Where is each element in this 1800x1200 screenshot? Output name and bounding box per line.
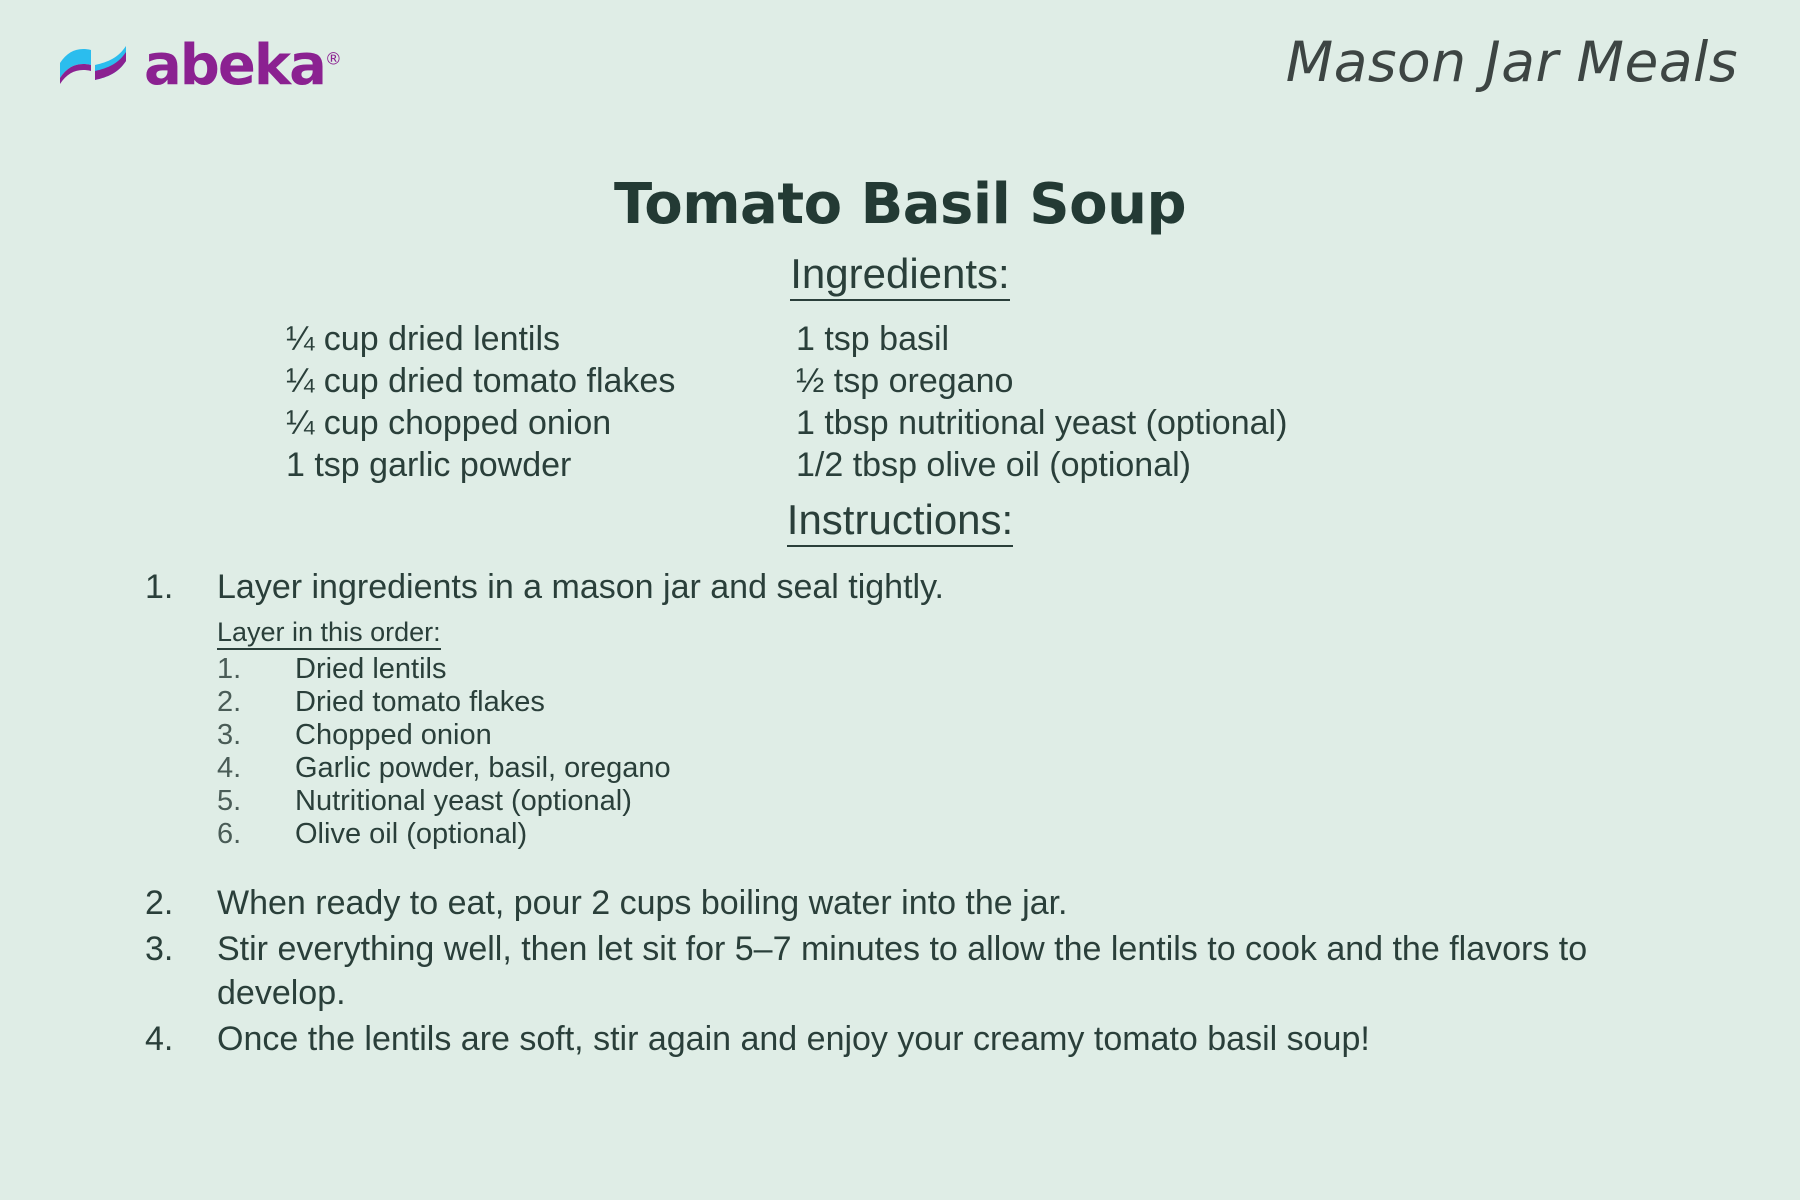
ingredient-item: ¼ cup chopped onion [286, 402, 616, 444]
instructions-heading-text: Instructions: [787, 496, 1013, 547]
step-text: Stir everything well, then let sit for 5… [217, 927, 1665, 1015]
ingredient-item: ½ tsp oregano [796, 360, 1287, 402]
layer-item-number: 6. [217, 818, 295, 851]
page-title: Tomato Basil Soup [0, 172, 1800, 237]
step-text: Once the lentils are soft, stir again an… [217, 1017, 1665, 1061]
step-number: 1. [145, 565, 217, 609]
ingredients-section: ¼ cup dried lentils ¼ cup dried tomato f… [0, 318, 1800, 486]
ingredient-item: ¼ cup dried lentils [286, 318, 616, 360]
layer-item-number: 1. [217, 653, 295, 686]
ingredients-column-right: 1 tsp basil ½ tsp oregano 1 tbsp nutriti… [796, 318, 1287, 486]
ingredients-column-left: ¼ cup dried lentils ¼ cup dried tomato f… [286, 318, 616, 486]
layer-item-text: Olive oil (optional) [295, 818, 1665, 851]
ingredient-item: 1 tbsp nutritional yeast (optional) [796, 402, 1287, 444]
layer-order-list: 1. Dried lentils 2. Dried tomato flakes … [217, 653, 1665, 851]
step-text: When ready to eat, pour 2 cups boiling w… [217, 881, 1665, 925]
step-text: Layer ingredients in a mason jar and sea… [217, 565, 1665, 609]
layer-item-text: Nutritional yeast (optional) [295, 785, 1665, 818]
registered-trademark-icon: ® [325, 49, 342, 69]
instruction-step: 4. Once the lentils are soft, stir again… [145, 1017, 1665, 1061]
layer-item-number: 3. [217, 719, 295, 752]
step-number: 3. [145, 927, 217, 1015]
abeka-logo: abeka® [58, 36, 342, 92]
layer-list-item: 1. Dried lentils [217, 653, 1665, 686]
layer-list-item: 3. Chopped onion [217, 719, 1665, 752]
instruction-step: 1. Layer ingredients in a mason jar and … [145, 565, 1665, 609]
ingredients-heading-text: Ingredients: [790, 250, 1009, 301]
ingredients-heading: Ingredients: [0, 250, 1800, 298]
layer-item-text: Dried lentils [295, 653, 1665, 686]
layer-list-item: 4. Garlic powder, basil, oregano [217, 752, 1665, 785]
step-number: 2. [145, 881, 217, 925]
layer-item-text: Chopped onion [295, 719, 1665, 752]
layer-item-number: 2. [217, 686, 295, 719]
ingredient-item: 1 tsp garlic powder [286, 444, 616, 486]
layer-item-number: 5. [217, 785, 295, 818]
brand-wordmark: abeka® [144, 38, 342, 94]
layer-order-block: Layer in this order: 1. Dried lentils 2.… [145, 613, 1665, 851]
page-header: abeka® Mason Jar Meals [0, 0, 1800, 130]
instruction-step: 3. Stir everything well, then let sit fo… [145, 927, 1665, 1015]
series-title: Mason Jar Meals [1286, 30, 1738, 94]
layer-list-item: 5. Nutritional yeast (optional) [217, 785, 1665, 818]
ingredient-item: 1 tsp basil [796, 318, 1287, 360]
layer-item-text: Dried tomato flakes [295, 686, 1665, 719]
instruction-step: 2. When ready to eat, pour 2 cups boilin… [145, 881, 1665, 925]
ingredient-item: 1/2 tbsp olive oil (optional) [796, 444, 1287, 486]
layer-item-number: 4. [217, 752, 295, 785]
spacer [145, 851, 1665, 881]
brand-name: abeka [144, 33, 325, 98]
instructions-heading: Instructions: [0, 496, 1800, 544]
open-book-icon [58, 38, 130, 90]
layer-order-heading: Layer in this order: [217, 613, 1665, 651]
layer-list-item: 6. Olive oil (optional) [217, 818, 1665, 851]
layer-list-item: 2. Dried tomato flakes [217, 686, 1665, 719]
step-number: 4. [145, 1017, 217, 1061]
ingredient-item: ¼ cup dried tomato flakes [286, 360, 616, 402]
layer-order-heading-text: Layer in this order: [217, 617, 441, 650]
instructions-section: 1. Layer ingredients in a mason jar and … [145, 565, 1665, 1063]
layer-item-text: Garlic powder, basil, oregano [295, 752, 1665, 785]
